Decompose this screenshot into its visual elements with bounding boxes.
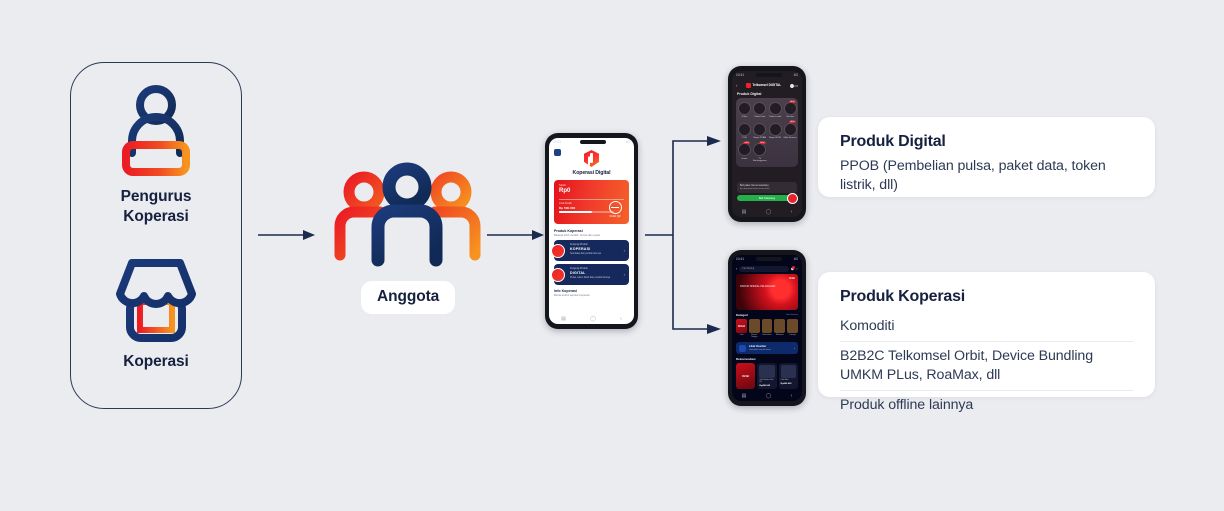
see-all-link[interactable]: Lihat Semua [786, 314, 798, 316]
actor-label-koperasi: Koperasi [123, 352, 189, 372]
pln-icon [738, 123, 751, 136]
product-tile-grid: Pulsa Paket Data Token Listrik NEW Vouch… [736, 98, 798, 167]
phone-marketplace: 10:41 4G ‹ Cari barang ⬟ ◌ DISKON SPESIA… [728, 250, 806, 406]
phone-produk-digital: 10:41 4G ‹ Telkomsel DIGITAL ⬤▭ Produk D… [728, 66, 806, 222]
tile-paket-data[interactable]: Paket Data [753, 102, 767, 119]
nav-back-icon[interactable]: ‹ [791, 209, 793, 215]
card-row-komoditi: Komoditi [840, 312, 1133, 341]
tile-pdam[interactable]: Bayar PDAM [753, 123, 767, 140]
card-produk-digital: Produk Digital PPOB (Pembelian pulsa, pa… [818, 117, 1155, 197]
orbit-brand-tile: Orbit [736, 319, 747, 333]
back-icon[interactable] [554, 149, 561, 156]
new-badge: NEW [789, 121, 796, 123]
new-badge: NEW [759, 142, 766, 144]
back-icon[interactable]: ‹ [736, 267, 737, 271]
category-makanan[interactable]: Makanan [774, 319, 785, 338]
status-time: 10:41 [736, 73, 744, 77]
token-icon [769, 102, 782, 115]
status-signal: 4G [626, 140, 630, 144]
nav-home-icon[interactable]: ◯ [590, 316, 596, 322]
category-image [787, 319, 798, 333]
section-info-koperasi: Info Koperasi Berita terkini seputar kop… [554, 289, 629, 297]
chevron-right-icon: › [624, 248, 625, 253]
actors-container: Pengurus Koperasi [70, 62, 242, 409]
category-list: Orbit Orbit Rumah Tangga Kebutuhan Makan… [736, 319, 798, 338]
chat-fab-icon[interactable] [787, 193, 798, 204]
status-time: 10:41 [736, 257, 744, 261]
category-image [749, 319, 760, 333]
system-navbar: ▤ ◯ ‹ [732, 206, 802, 217]
cart-icon[interactable]: ⬤▭ [790, 83, 798, 88]
product-image [759, 365, 774, 378]
section-rekomendasi-header: Rekomendasi [736, 357, 798, 361]
person-badge-icon [113, 83, 199, 179]
notch [756, 257, 782, 261]
people-group-icon [330, 160, 485, 280]
game-icon [738, 143, 751, 156]
card-produk-koperasi: Produk Koperasi Komoditi B2B2C Telkomsel… [818, 272, 1155, 397]
tile-pln[interactable]: PLN [738, 123, 751, 140]
telkomsel-mark [746, 83, 751, 88]
search-input[interactable]: Cari barang [739, 266, 789, 272]
nav-home-icon[interactable]: ◯ [766, 209, 772, 215]
nav-home-icon[interactable]: ◯ [766, 393, 772, 399]
cart-badge [792, 266, 795, 269]
promo-banner: Beli paket internet sekarang dan dapatka… [737, 182, 797, 193]
card-title: Produk Koperasi [840, 288, 1133, 306]
voucher-banner[interactable]: Lihat Voucher Lihat daftar voucher kamu … [736, 342, 798, 354]
scan-qr-button[interactable]: SCAN QR [606, 201, 624, 218]
data-icon [753, 102, 766, 115]
new-badge: NEW [789, 101, 796, 103]
chevron-right-icon: › [624, 272, 625, 277]
actor-koperasi: Koperasi [110, 254, 202, 372]
status-time: 10:41 [553, 140, 561, 144]
status-signal: 4G [794, 257, 798, 261]
multifinance-icon [784, 123, 797, 136]
search-header: ‹ Cari barang ⬟ ◌ [732, 263, 802, 274]
category-lainnya[interactable]: Lainnya [787, 319, 798, 338]
members-label-pill: Anggota [361, 281, 455, 314]
arrow-members-to-app [487, 224, 545, 246]
menu-item-koperasi[interactable]: Kunjungi Produk KOPERASI Sembako dan pro… [554, 240, 629, 261]
tile-multifinance[interactable]: NEW Multi Finance [784, 123, 797, 140]
balance-label: Saldo [559, 184, 624, 187]
system-navbar: ▤ ◯ ‹ [732, 390, 802, 401]
nav-menu-icon[interactable]: ▤ [561, 316, 566, 322]
nav-menu-icon[interactable]: ▤ [742, 209, 747, 215]
product-image [781, 365, 796, 378]
product-card[interactable]: Orbit Max Rp899.000 [779, 363, 798, 389]
cart-icon[interactable]: ⬟ [791, 267, 794, 271]
pdam-icon [753, 123, 766, 136]
actor-pengurus-koperasi: Pengurus Koperasi [113, 83, 199, 228]
product-list: Orbit Orbit Modem Star H2 Rp499.000 Orbi… [736, 363, 798, 389]
tile-game[interactable]: NEW Game [738, 143, 751, 162]
status-bar: 10:41 4G [549, 138, 634, 146]
nav-back-icon[interactable]: ‹ [791, 393, 793, 399]
card-row-b2b2c: B2B2C Telkomsel Orbit, Device Bundling U… [840, 341, 1133, 390]
tile-tv[interactable]: NEW TV Berlangganan [753, 143, 767, 162]
telkomsel-logo [584, 150, 599, 167]
chevron-right-icon: › [794, 346, 795, 350]
diagram-canvas: Pengurus Koperasi [0, 0, 1224, 511]
category-image [762, 319, 773, 333]
store-icon [110, 254, 202, 344]
voucher-icon [739, 345, 746, 352]
tile-voucher[interactable]: NEW Voucher [784, 102, 797, 119]
tile-token-listrik[interactable]: Token Listrik [769, 102, 782, 119]
product-orbit-brand[interactable]: Orbit [736, 363, 755, 389]
status-bar: 10:41 4G [732, 71, 802, 79]
phone-koperasi-digital: 10:41 4G Koperasi Digital Saldo Rp0 Limi… [545, 133, 638, 329]
card-body: PPOB (Pembelian pulsa, paket data, token… [840, 157, 1133, 195]
divider [559, 199, 624, 200]
notch [580, 140, 606, 144]
notch [756, 73, 782, 77]
pulsa-icon [738, 102, 751, 115]
system-navbar: ▤ ◯ ‹ [549, 313, 634, 324]
qr-icon [609, 201, 622, 214]
card-row-offline: Produk offline lainnya [840, 390, 1133, 420]
actor-label-pengurus: Pengurus Koperasi [121, 187, 192, 228]
back-icon[interactable]: ‹ [736, 83, 737, 88]
status-bar: 10:41 4G [732, 255, 802, 263]
section-kategori-header: Kategori Lihat Semua [736, 313, 798, 317]
bell-icon[interactable]: ◌ [796, 267, 798, 271]
new-badge: NEW [743, 142, 750, 144]
hero-banner[interactable]: DISKON SPESIAL PELANGGAN Orbit [736, 274, 798, 310]
balance-amount: Rp0 [559, 188, 624, 194]
menu-item-digital[interactable]: Kunjungi Produk DIGITAL Pulsa, token lis… [554, 264, 629, 285]
nav-menu-icon[interactable]: ▤ [742, 393, 747, 399]
app-header: ‹ Telkomsel DIGITAL ⬤▭ [732, 79, 802, 91]
section-produk-koperasi: Produk Koperasi Belanja lebih mudah, hem… [554, 229, 629, 237]
product-card[interactable]: Orbit Modem Star H2 Rp499.000 [757, 363, 776, 389]
digital-icon [551, 268, 565, 282]
page-title: Produk Digital [737, 92, 802, 96]
app-title: Koperasi Digital [549, 170, 634, 176]
bpjs-icon [769, 123, 782, 136]
koperasi-icon [551, 244, 565, 258]
category-orbit[interactable]: Orbit Orbit [736, 319, 747, 338]
card-title: Produk Digital [840, 133, 1133, 151]
status-signal: 4G [794, 73, 798, 77]
tv-icon [753, 143, 766, 156]
tile-bpjs[interactable]: Bayar BPJS [769, 123, 782, 140]
balance-card: Saldo Rp0 Limit Kredit Rp 500.000 SCAN Q… [554, 180, 629, 224]
category-image [774, 319, 785, 333]
category-kebutuhan[interactable]: Kebutuhan [762, 319, 773, 338]
tile-pulsa[interactable]: Pulsa [738, 102, 751, 119]
arrow-left-to-members [258, 224, 316, 246]
nav-back-icon[interactable]: ‹ [620, 316, 622, 322]
brand-logo: Telkomsel DIGITAL [746, 83, 781, 88]
category-rumah-tangga[interactable]: Rumah Tangga [749, 319, 760, 338]
voucher-icon [784, 102, 797, 115]
